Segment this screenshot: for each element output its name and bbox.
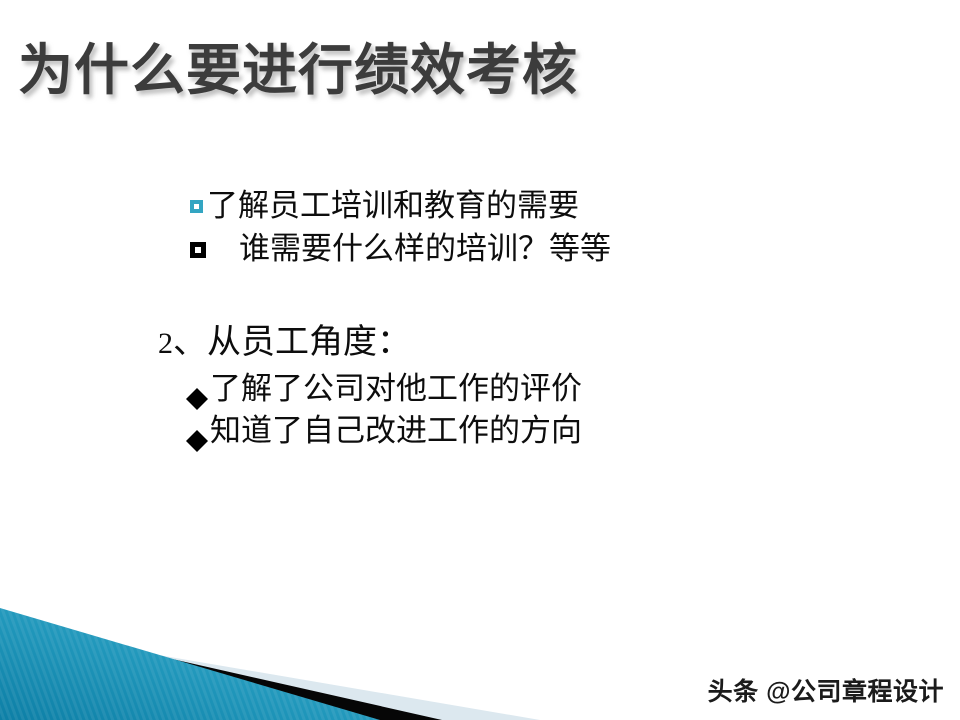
list-item-label: 知道了自己改进工作的方向	[210, 411, 582, 451]
presentation-slide: 为什么要进行绩效考核 了解员工培训和教育的需要 谁需要什么样的培训？等等 2、从…	[0, 0, 960, 720]
list-item-label: 了解了公司对他工作的评价	[210, 369, 582, 409]
diamond-bullet-icon	[186, 419, 208, 441]
light-band-shape	[0, 628, 540, 720]
hollow-square-black-icon	[190, 242, 206, 258]
list-item: 了解员工培训和教育的需要	[0, 186, 960, 226]
section-heading: 2、从员工角度：	[0, 319, 960, 367]
black-stripe-shape	[0, 620, 442, 720]
slide-body: 了解员工培训和教育的需要 谁需要什么样的培训？等等 2、从员工角度： 了解了公司…	[0, 186, 960, 451]
watermark-text: 头条 @公司章程设计	[708, 672, 944, 708]
list-item-label: 谁需要什么样的培训？等等	[239, 229, 611, 269]
list-item: 谁需要什么样的培训？等等	[0, 229, 960, 269]
diamond-bullet-icon	[186, 377, 208, 399]
list-item-label: 了解员工培训和教育的需要	[207, 186, 579, 226]
list-item: 了解了公司对他工作的评价	[0, 369, 960, 409]
section-number: 2	[158, 327, 173, 360]
teal-texture-overlay	[0, 608, 380, 720]
page-title: 为什么要进行绩效考核	[18, 42, 578, 100]
teal-triangle-shape	[0, 608, 380, 720]
hollow-square-teal-icon	[190, 200, 203, 213]
list-item: 知道了自己改进工作的方向	[0, 411, 960, 451]
section-heading-label: 从员工角度：	[207, 323, 411, 361]
section-separator: 、	[173, 323, 207, 361]
